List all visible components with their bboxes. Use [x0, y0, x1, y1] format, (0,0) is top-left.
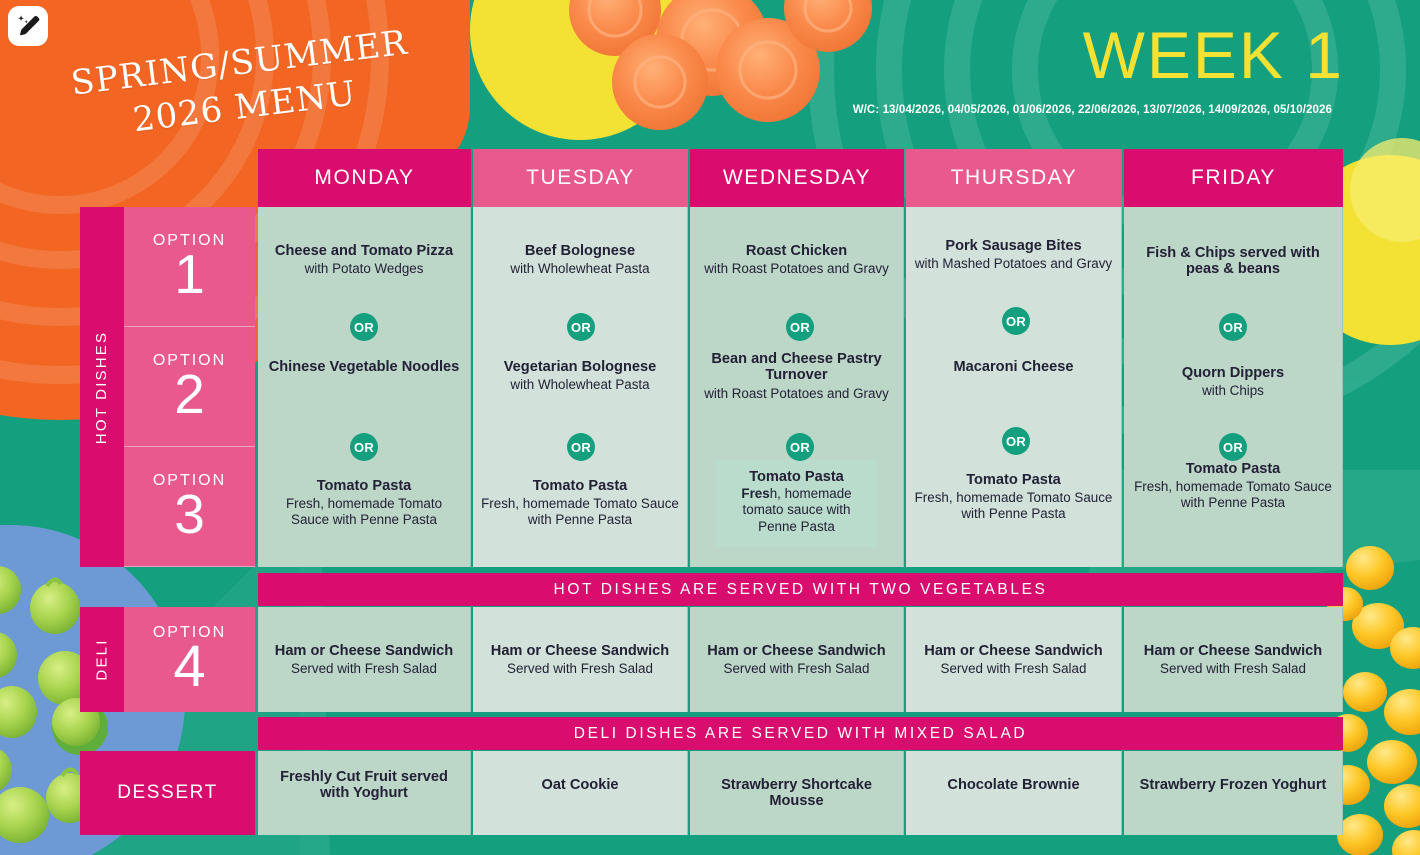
- day-header-label: WEDNESDAY: [723, 166, 871, 190]
- dish-title: Freshly Cut Fruit served with Yoghurt: [266, 769, 462, 802]
- cell-option1-monday: Cheese and Tomato Pizza with Potato Wedg…: [258, 207, 471, 327]
- dish-title: Quorn Dippers: [1182, 365, 1284, 381]
- cell-dessert-monday: Freshly Cut Fruit served with Yoghurt: [258, 751, 471, 835]
- dish-title: Bean and Cheese Pastry Turnover: [698, 351, 895, 384]
- or-badge: OR: [350, 433, 378, 461]
- cell-option4-thursday: Ham or Cheese Sandwich Served with Fresh…: [906, 607, 1122, 712]
- cell-option3-monday: Tomato Pasta Fresh, homemade Tomato Sauc…: [258, 447, 471, 567]
- or-badge: OR: [1219, 433, 1247, 461]
- banner-hot-dishes: HOT DISHES ARE SERVED WITH TWO VEGETABLE…: [258, 573, 1343, 606]
- dish-title: Chinese Vegetable Noodles: [269, 359, 460, 375]
- or-badge: OR: [786, 313, 814, 341]
- or-badge: OR: [1002, 307, 1030, 335]
- dish-subtitle: Served with Fresh Salad: [941, 661, 1087, 677]
- dish-subtitle: with Roast Potatoes and Gravy: [704, 386, 889, 402]
- cell-option4-wednesday: Ham or Cheese Sandwich Served with Fresh…: [690, 607, 904, 712]
- option-number: 1: [174, 248, 205, 301]
- ai-logo-badge: [8, 6, 48, 46]
- day-header-label: TUESDAY: [526, 166, 635, 190]
- dish-title: Cheese and Tomato Pizza: [275, 243, 453, 259]
- dish-subtitle: with Chips: [1202, 383, 1264, 399]
- dish-title: Beef Bolognese: [525, 243, 635, 259]
- or-badge: OR: [567, 313, 595, 341]
- option-label-3: OPTION 3: [124, 447, 255, 567]
- dish-title: Tomato Pasta: [533, 478, 628, 494]
- cell-option4-tuesday: Ham or Cheese Sandwich Served with Fresh…: [473, 607, 688, 712]
- cell-option2-wednesday: Bean and Cheese Pastry Turnover with Roa…: [690, 327, 904, 447]
- cell-option3-tuesday: Tomato Pasta Fresh, homemade Tomato Sauc…: [473, 447, 688, 567]
- dish-subtitle: with Mashed Potatoes and Gravy: [915, 256, 1112, 272]
- or-badge: OR: [1219, 313, 1247, 341]
- cell-option3-thursday: Tomato Pasta Fresh, homemade Tomato Sauc…: [906, 447, 1122, 567]
- day-header-wednesday: WEDNESDAY: [690, 149, 904, 207]
- day-header-monday: MONDAY: [258, 149, 471, 207]
- dish-subtitle: Served with Fresh Salad: [291, 661, 437, 677]
- dish-title: Tomato Pasta: [317, 478, 412, 494]
- day-header-label: THURSDAY: [951, 166, 1078, 190]
- option-number: 3: [174, 488, 205, 541]
- day-header-label: MONDAY: [314, 166, 414, 190]
- dish-subtitle: with Roast Potatoes and Gravy: [704, 261, 889, 277]
- section-label-deli: DELI: [80, 607, 124, 712]
- dish-title: Roast Chicken: [746, 243, 847, 259]
- cell-option3-wednesday: Tomato Pasta Fresh, homemade tomato sauc…: [690, 447, 904, 567]
- dish-subtitle: Fresh, homemade Tomato Sauce with Penne …: [481, 496, 679, 527]
- section-label-dessert: DESSERT: [80, 751, 255, 835]
- cell-option4-friday: Ham or Cheese Sandwich Served with Fresh…: [1124, 607, 1343, 712]
- cell-option1-wednesday: Roast Chicken with Roast Potatoes and Gr…: [690, 207, 904, 327]
- banner-deli-dishes: DELI DISHES ARE SERVED WITH MIXED SALAD: [258, 717, 1343, 750]
- dish-subtitle: with Wholewheat Pasta: [510, 261, 649, 277]
- option-label-4: OPTION 4: [124, 607, 255, 712]
- cell-option2-monday: Chinese Vegetable Noodles: [258, 327, 471, 447]
- cell-dessert-tuesday: Oat Cookie: [473, 751, 688, 835]
- dish-title: Ham or Cheese Sandwich: [924, 643, 1102, 659]
- cell-option4-monday: Ham or Cheese Sandwich Served with Fresh…: [258, 607, 471, 712]
- section-label-hot-dishes: HOT DISHES: [80, 207, 124, 567]
- day-header-friday: FRIDAY: [1124, 149, 1343, 207]
- day-header-thursday: THURSDAY: [906, 149, 1122, 207]
- dish-title: Fish & Chips served with peas & beans: [1132, 245, 1334, 278]
- or-badge: OR: [350, 313, 378, 341]
- option-label-2: OPTION 2: [124, 327, 255, 447]
- dish-subtitle: with Potato Wedges: [305, 261, 424, 277]
- or-badge: OR: [786, 433, 814, 461]
- dish-subtitle: Served with Fresh Salad: [724, 661, 870, 677]
- dish-title: Strawberry Shortcake Mousse: [698, 777, 895, 810]
- dish-title: Tomato Pasta: [722, 469, 871, 485]
- dish-title: Ham or Cheese Sandwich: [491, 643, 669, 659]
- cell-dessert-thursday: Chocolate Brownie: [906, 751, 1122, 835]
- cell-option2-friday: Quorn Dippers with Chips: [1124, 327, 1343, 447]
- option-number: 4: [173, 639, 205, 695]
- dish-subtitle: with Wholewheat Pasta: [510, 377, 649, 393]
- dish-subtitle: Fresh, homemade Tomato Sauce with Penne …: [1132, 479, 1334, 510]
- cell-option2-tuesday: Vegetarian Bolognese with Wholewheat Pas…: [473, 327, 688, 447]
- dish-title: Macaroni Cheese: [953, 359, 1073, 375]
- dish-title: Vegetarian Bolognese: [504, 359, 656, 375]
- dish-subtitle: Served with Fresh Salad: [1160, 661, 1306, 677]
- dish-title: Ham or Cheese Sandwich: [1144, 643, 1322, 659]
- dish-title: Tomato Pasta: [966, 472, 1061, 488]
- cell-option1-friday: Fish & Chips served with peas & beans: [1124, 207, 1343, 327]
- cell-dessert-wednesday: Strawberry Shortcake Mousse: [690, 751, 904, 835]
- cell-option3-friday: Tomato Pasta Fresh, homemade Tomato Sauc…: [1124, 447, 1343, 567]
- dish-title: Ham or Cheese Sandwich: [707, 643, 885, 659]
- cell-dessert-friday: Strawberry Frozen Yoghurt: [1124, 751, 1343, 835]
- dish-subtitle: Fresh, homemade Tomato Sauce with Penne …: [266, 496, 462, 527]
- cell-option1-tuesday: Beef Bolognese with Wholewheat Pasta: [473, 207, 688, 327]
- dish-title: Oat Cookie: [541, 777, 618, 793]
- day-header-label: FRIDAY: [1191, 166, 1276, 190]
- dish-subtitle: Fresh, homemade tomato sauce with Penne …: [722, 486, 871, 534]
- option-number: 2: [174, 368, 205, 421]
- magic-wand-icon: [15, 13, 41, 39]
- dish-title: Strawberry Frozen Yoghurt: [1140, 777, 1327, 793]
- option-label-1: OPTION 1: [124, 207, 255, 327]
- dish-subtitle: Served with Fresh Salad: [507, 661, 653, 677]
- dish-subtitle: Fresh, homemade Tomato Sauce with Penne …: [914, 490, 1113, 521]
- dish-title: Chocolate Brownie: [947, 777, 1079, 793]
- week-commencing-dates: W/C: 13/04/2026, 04/05/2026, 01/06/2026,…: [853, 104, 1332, 116]
- day-header-tuesday: TUESDAY: [473, 149, 688, 207]
- week-label: WEEK 1: [1083, 22, 1344, 88]
- dish-title: Ham or Cheese Sandwich: [275, 643, 453, 659]
- dish-title: Pork Sausage Bites: [945, 238, 1081, 254]
- highlighted-dish-box: Tomato Pasta Fresh, homemade tomato sauc…: [716, 460, 877, 547]
- dish-title: Tomato Pasta: [1186, 461, 1281, 477]
- or-badge: OR: [1002, 427, 1030, 455]
- or-badge: OR: [567, 433, 595, 461]
